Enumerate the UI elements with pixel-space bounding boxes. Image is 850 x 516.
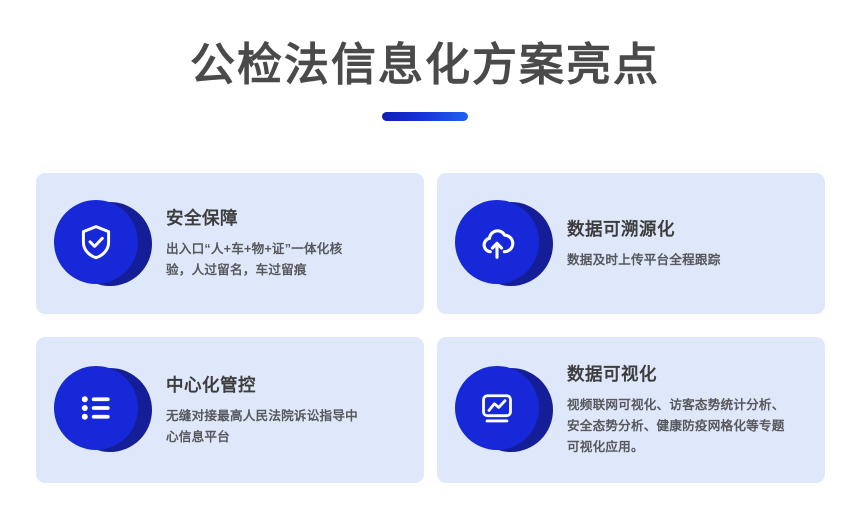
card-title: 安全保障 [166, 206, 366, 230]
bullet-list-icon [75, 387, 117, 429]
card-text: 安全保障 出入口“人+车+物+证”一体化核验，人过留名，车过留痕 [154, 206, 380, 281]
icon-medallion [50, 361, 154, 459]
card-description: 无缝对接最高人民法院诉讼指导中心信息平台 [166, 406, 366, 448]
highlights-page: 公检法信息化方案亮点 安全保障 出入口“人+车+物+证”一体化核 [0, 0, 850, 516]
icon-circle [54, 366, 138, 450]
page-header: 公检法信息化方案亮点 [0, 0, 850, 121]
cloud-upload-icon [475, 220, 519, 264]
card-title: 数据可视化 [567, 362, 785, 386]
icon-circle [455, 366, 539, 450]
page-title: 公检法信息化方案亮点 [0, 36, 850, 94]
icon-circle [54, 200, 138, 284]
feature-card-centralized-control[interactable]: 中心化管控 无缝对接最高人民法院诉讼指导中心信息平台 [36, 337, 424, 483]
feature-card-traceability[interactable]: 数据可溯源化 数据及时上传平台全程跟踪 [437, 173, 825, 314]
card-text: 中心化管控 无缝对接最高人民法院诉讼指导中心信息平台 [154, 373, 380, 448]
card-title: 中心化管控 [166, 373, 366, 397]
title-underline-accent [382, 112, 468, 121]
card-description: 出入口“人+车+物+证”一体化核验，人过留名，车过留痕 [166, 239, 366, 281]
icon-circle [455, 200, 539, 284]
icon-medallion [451, 195, 555, 293]
icon-medallion [50, 195, 154, 293]
card-text: 数据可视化 视频联网可视化、访客态势统计分析、安全态势分析、健康防疫网格化等专题… [555, 362, 799, 458]
shield-check-icon [75, 221, 117, 263]
card-title: 数据可溯源化 [567, 217, 721, 241]
card-description: 数据及时上传平台全程跟踪 [567, 250, 721, 271]
card-text: 数据可溯源化 数据及时上传平台全程跟踪 [555, 217, 735, 271]
icon-medallion [451, 361, 555, 459]
feature-card-grid: 安全保障 出入口“人+车+物+证”一体化核验，人过留名，车过留痕 [36, 173, 822, 483]
chart-monitor-icon [476, 387, 518, 429]
feature-card-visualization[interactable]: 数据可视化 视频联网可视化、访客态势统计分析、安全态势分析、健康防疫网格化等专题… [437, 337, 825, 483]
feature-card-security[interactable]: 安全保障 出入口“人+车+物+证”一体化核验，人过留名，车过留痕 [36, 173, 424, 314]
card-description: 视频联网可视化、访客态势统计分析、安全态势分析、健康防疫网格化等专题可视化应用。 [567, 395, 785, 458]
